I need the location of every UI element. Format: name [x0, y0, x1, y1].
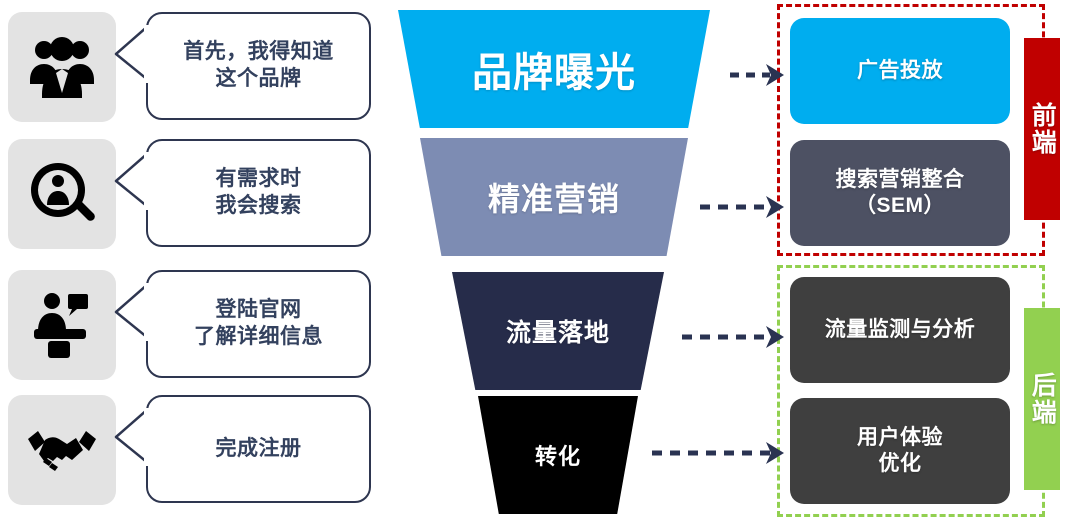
persona-icon-tile-awareness: [8, 12, 116, 122]
front-end-tag-label: 前端: [1029, 102, 1056, 156]
handshake-icon: [26, 425, 98, 475]
speech-bubble-search: 有需求时 我会搜索: [146, 139, 371, 247]
back-end-tag: 后端: [1024, 308, 1060, 490]
speech-bubble-awareness: 首先，我得知道 这个品牌: [146, 12, 371, 120]
user-search-icon: [29, 161, 95, 227]
channel-box-label: 广告投放: [857, 58, 943, 84]
channel-box-ad-placement[interactable]: 广告投放: [790, 18, 1010, 124]
channel-box-traffic-analytics[interactable]: 流量监测与分析: [790, 277, 1010, 383]
speech-bubble-website: 登陆官网 了解详细信息: [146, 270, 371, 378]
speech-bubble-text: 登陆官网 了解详细信息: [194, 297, 323, 351]
channel-box-label: 搜索营销整合 （SEM）: [836, 167, 965, 220]
funnel-stage-awareness: 品牌曝光: [398, 10, 710, 128]
group-of-people-icon: [28, 36, 96, 98]
funnel-stage-label: 转化: [535, 439, 581, 471]
funnel-stage-landing: 流量落地: [452, 272, 664, 390]
arrow-awareness-to-ads: [728, 60, 786, 90]
funnel-stage-label: 流量落地: [506, 313, 610, 349]
arrow-targeting-to-sem: [698, 192, 786, 222]
arrow-landing-to-analytics: [680, 322, 786, 352]
funnel-stage-label: 品牌曝光: [472, 40, 636, 98]
speech-bubble-text: 完成注册: [216, 436, 302, 463]
back-end-tag-label: 后端: [1029, 372, 1056, 426]
funnel-diagram: 首先，我得知道 这个品牌 有需求时 我会搜索 登陆官网 了解详细信息 完成注册 …: [0, 0, 1073, 520]
funnel-stage-label: 精准营销: [488, 174, 620, 220]
funnel-stage-targeting: 精准营销: [420, 138, 688, 256]
channel-box-ux-optimization[interactable]: 用户体验 优化: [790, 398, 1010, 504]
persona-icon-tile-search: [8, 139, 116, 249]
speech-bubble-text: 有需求时 我会搜索: [216, 166, 302, 220]
front-end-tag: 前端: [1024, 38, 1060, 220]
channel-box-label: 用户体验 优化: [857, 425, 943, 478]
person-at-desk-icon: [30, 291, 94, 359]
channel-box-label: 流量监测与分析: [825, 317, 976, 343]
arrow-conversion-to-ux: [650, 438, 786, 468]
persona-icon-tile-register: [8, 395, 116, 505]
funnel-stage-conversion: 转化: [478, 396, 638, 514]
speech-bubble-register: 完成注册: [146, 395, 371, 503]
persona-icon-tile-website: [8, 270, 116, 380]
speech-bubble-text: 首先，我得知道 这个品牌: [183, 39, 334, 93]
channel-box-sem[interactable]: 搜索营销整合 （SEM）: [790, 140, 1010, 246]
